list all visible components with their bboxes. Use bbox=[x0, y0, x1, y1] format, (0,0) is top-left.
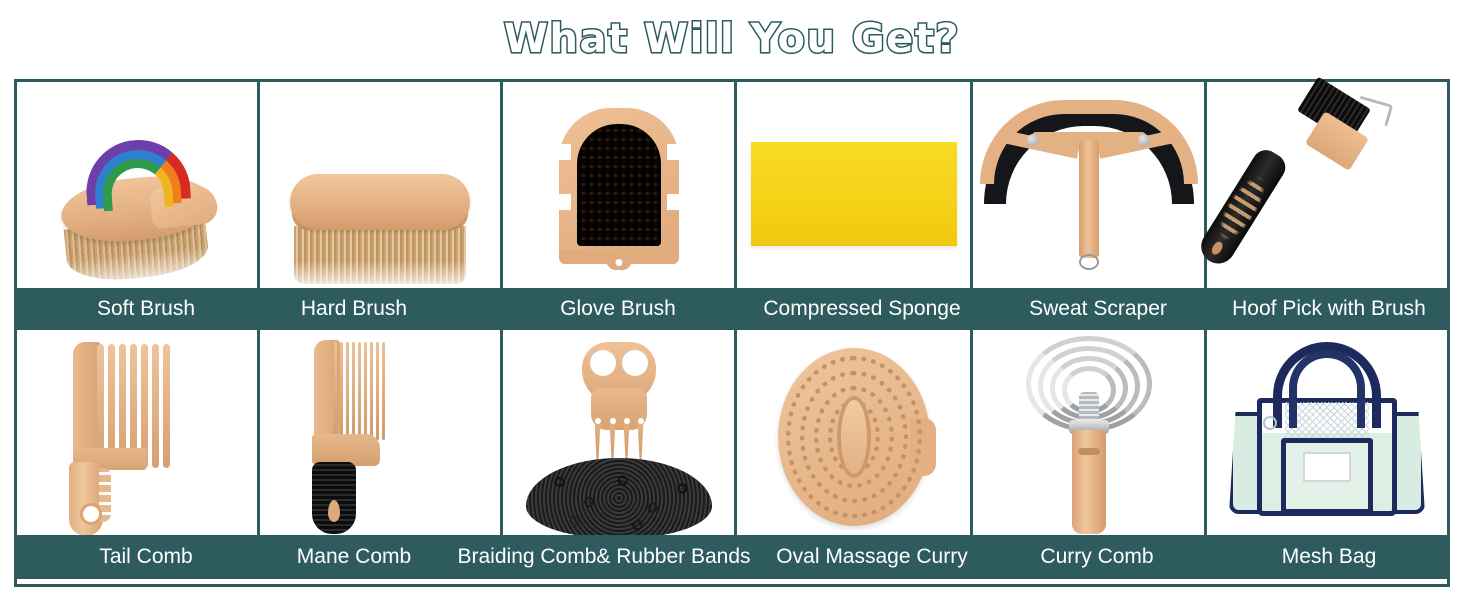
hoof-pick-icon bbox=[1207, 82, 1447, 288]
page-title: What Will You Get? bbox=[0, 8, 1464, 70]
product-row-1-images bbox=[17, 82, 1447, 288]
curry-comb-icon bbox=[973, 330, 1204, 535]
sweat-scraper-icon bbox=[973, 82, 1204, 288]
product-label-sweat-scraper: Sweat Scraper bbox=[1029, 297, 1167, 321]
product-cell-compressed-sponge[interactable] bbox=[737, 82, 973, 288]
glove-brush-icon bbox=[503, 82, 734, 288]
product-cell-curry-comb[interactable] bbox=[973, 330, 1207, 535]
product-cell-hoof-pick[interactable] bbox=[1207, 82, 1447, 288]
product-row-1-labels: Soft Brush Hard Brush Glove Brush Compre… bbox=[17, 288, 1447, 330]
product-feature-grid: What Will You Get? bbox=[0, 0, 1464, 600]
product-label-soft-brush: Soft Brush bbox=[97, 297, 195, 321]
oval-massage-curry-icon bbox=[737, 330, 970, 535]
product-label-mesh-bag: Mesh Bag bbox=[1282, 545, 1377, 569]
hard-brush-icon bbox=[260, 82, 500, 288]
product-label-braiding-comb: Braiding Comb& Rubber Bands bbox=[458, 545, 751, 569]
product-row-2-labels: Tail Comb Mane Comb Braiding Comb& Rubbe… bbox=[17, 535, 1447, 579]
product-cell-soft-brush[interactable] bbox=[17, 82, 260, 288]
product-cell-sweat-scraper[interactable] bbox=[973, 82, 1207, 288]
product-row-2-images bbox=[17, 330, 1447, 535]
product-label-curry-comb: Curry Comb bbox=[1040, 545, 1153, 569]
page-title-text: What Will You Get? bbox=[504, 16, 960, 62]
product-label-hard-brush: Hard Brush bbox=[301, 297, 407, 321]
product-cell-braiding-comb[interactable] bbox=[503, 330, 737, 535]
mane-comb-icon bbox=[260, 330, 500, 535]
rubber-bands-icon bbox=[526, 458, 712, 538]
braiding-comb-icon bbox=[503, 330, 734, 535]
product-label-glove-brush: Glove Brush bbox=[560, 297, 676, 321]
soft-brush-icon bbox=[17, 82, 257, 288]
mesh-bag-icon bbox=[1207, 330, 1447, 535]
product-label-tail-comb: Tail Comb bbox=[99, 545, 192, 569]
product-label-compressed-sponge: Compressed Sponge bbox=[763, 297, 960, 321]
compressed-sponge-icon bbox=[737, 82, 970, 288]
product-cell-mesh-bag[interactable] bbox=[1207, 330, 1447, 535]
product-cell-mane-comb[interactable] bbox=[260, 330, 503, 535]
product-cell-glove-brush[interactable] bbox=[503, 82, 737, 288]
product-cell-oval-massage-curry[interactable] bbox=[737, 330, 973, 535]
tail-comb-icon bbox=[17, 330, 257, 535]
product-label-hoof-pick: Hoof Pick with Brush bbox=[1232, 297, 1426, 321]
product-label-oval-massage-curry: Oval Massage Curry bbox=[776, 545, 967, 569]
product-grid-frame: Soft Brush Hard Brush Glove Brush Compre… bbox=[14, 79, 1450, 587]
product-cell-tail-comb[interactable] bbox=[17, 330, 260, 535]
product-label-mane-comb: Mane Comb bbox=[297, 545, 411, 569]
product-cell-hard-brush[interactable] bbox=[260, 82, 503, 288]
